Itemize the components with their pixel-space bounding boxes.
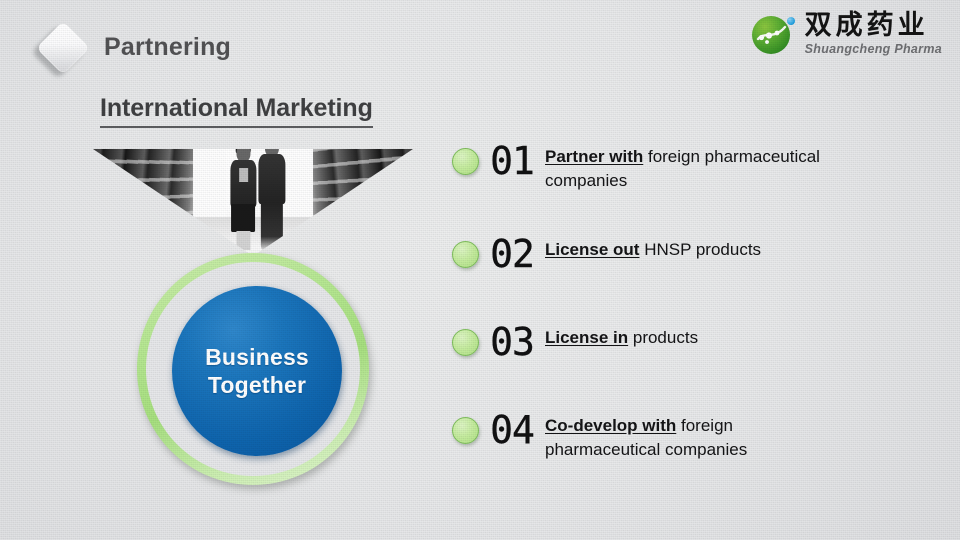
slide-canvas: Partnering International Marketing [0,0,960,540]
page-title: Partnering [104,33,231,62]
badge-blue-circle: Business Together [172,286,342,456]
point-emphasis: License in [545,328,628,347]
point-rest: products [628,328,698,347]
person-woman [231,149,256,250]
point-text: License out HNSP products [545,232,761,262]
point-emphasis: License out [545,240,639,259]
photo-content [93,149,413,256]
business-together-badge: Business Together [137,253,369,485]
point-number: 02 [479,235,545,273]
woman-jacket [231,160,256,207]
woman-skirt [232,204,256,233]
list-item[interactable]: 04 Co-develop with foreign pharmaceutica… [452,408,845,462]
point-number: 01 [479,142,545,180]
brand-logo: 双成药业 Shuangcheng Pharma [748,10,942,58]
brand-name-en: Shuangcheng Pharma [805,43,942,56]
bullet-dot-icon [452,241,479,268]
badge-line-2: Together [208,371,306,399]
person-man [258,149,285,250]
man-sweater [258,154,285,204]
bullet-dot-icon [452,329,479,356]
point-text: License in products [545,320,698,350]
point-number: 03 [479,323,545,361]
point-text: Partner with foreign pharmaceutical comp… [545,139,845,193]
shuangcheng-logo-icon [748,10,796,58]
list-item[interactable]: 03 License in products [452,320,698,361]
point-emphasis: Co-develop with [545,416,676,435]
badge-line-1: Business [205,343,309,371]
rack-bars-right [313,149,413,256]
point-text: Co-develop with foreign pharmaceutical c… [545,408,845,462]
section-title: International Marketing [100,94,373,128]
bullet-dot-icon [452,417,479,444]
point-emphasis: Partner with [545,147,643,166]
bullet-dot-icon [452,148,479,175]
man-trousers [261,202,283,251]
list-item[interactable]: 01 Partner with foreign pharmaceutical c… [452,139,845,193]
diamond-shape [36,21,90,75]
rack-bars-left [93,149,193,256]
server-rack-right [313,149,413,256]
triangle-photo [93,149,413,256]
point-rest: HNSP products [639,240,761,259]
woman-shirt [239,168,248,182]
brand-name-cn: 双成药业 [805,12,942,39]
list-item[interactable]: 02 License out HNSP products [452,232,761,273]
diamond-bullet-icon [33,24,91,76]
brand-logo-text: 双成药业 Shuangcheng Pharma [805,12,942,56]
point-number: 04 [479,411,545,449]
logo-blue-dot-icon [787,17,795,25]
server-rack-left [93,149,193,256]
woman-legs [237,231,250,250]
